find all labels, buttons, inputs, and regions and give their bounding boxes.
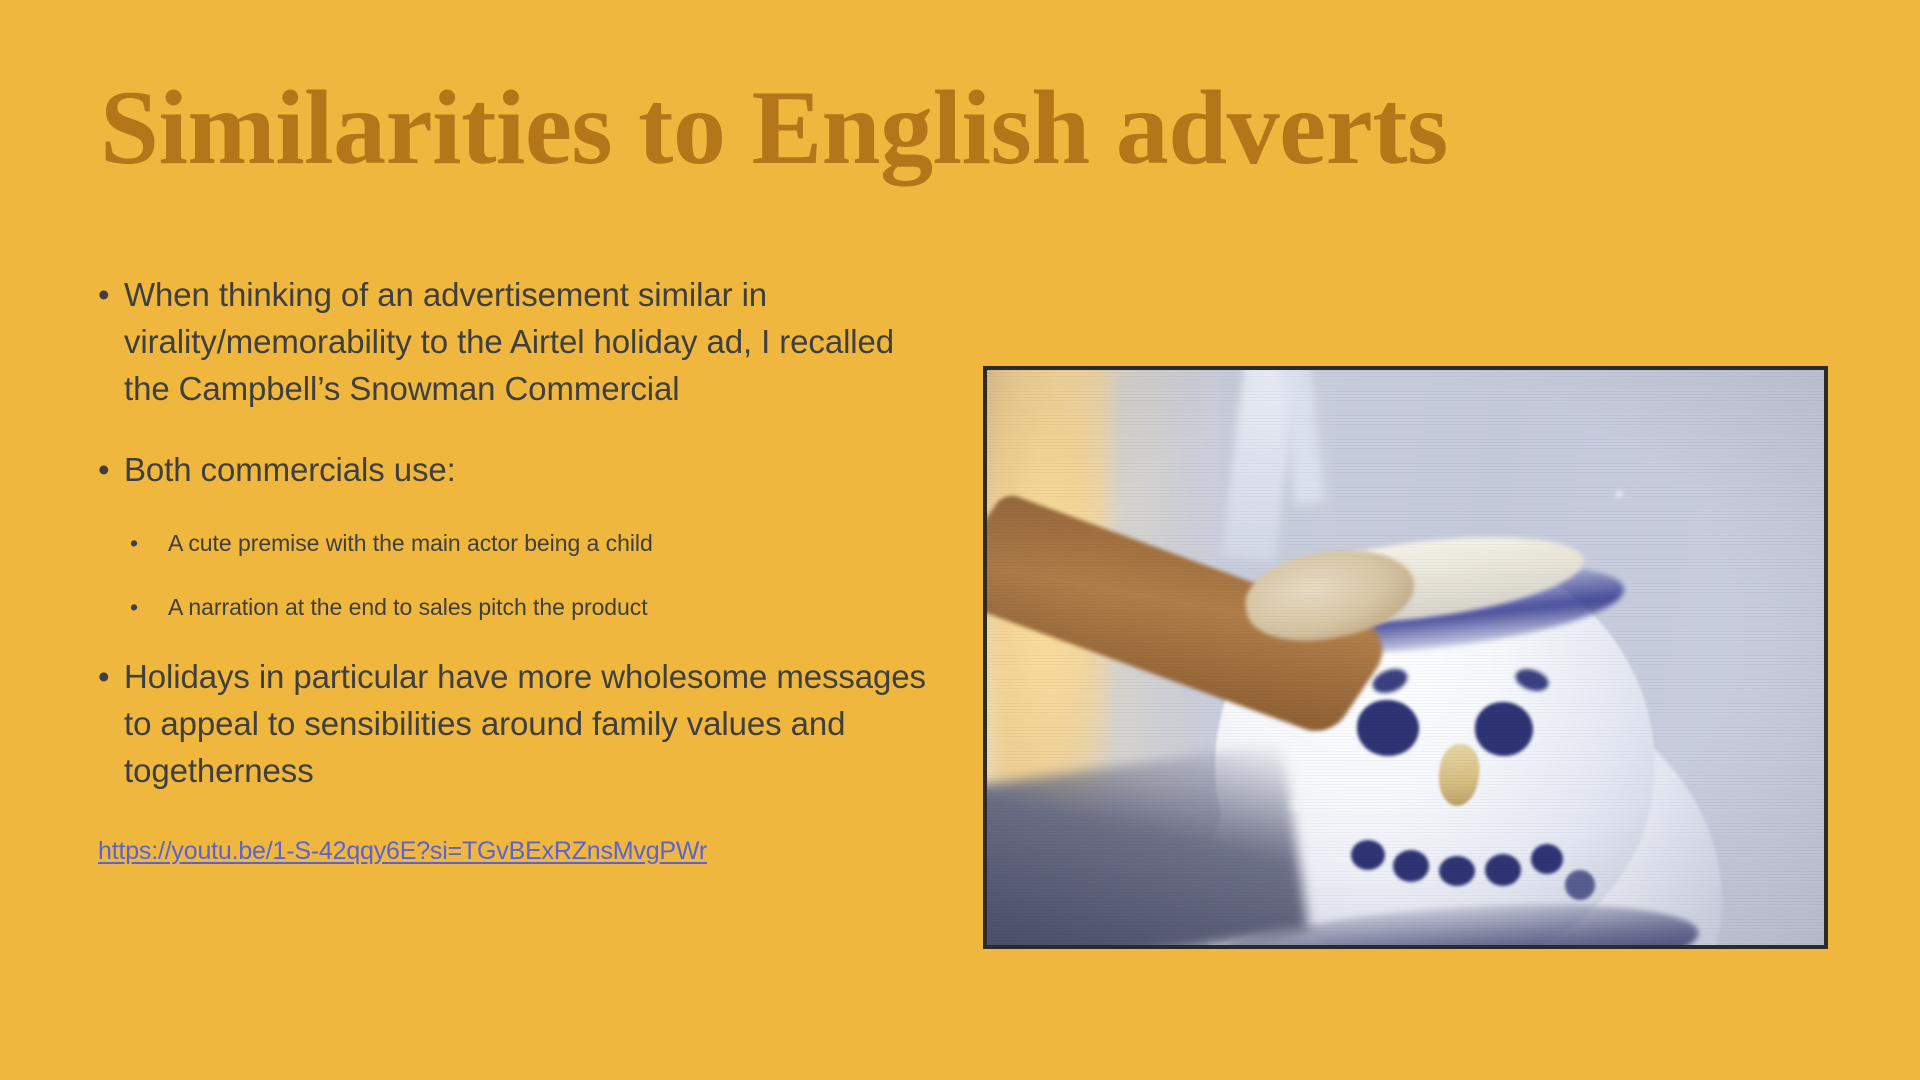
slide-body: • When thinking of an advertisement simi… — [98, 272, 933, 867]
bullet-text: When thinking of an advertisement simila… — [124, 272, 933, 413]
bullet-marker-icon: • — [98, 654, 124, 701]
bullet-marker-icon: • — [130, 527, 168, 560]
bullet-item-2: • Both commercials use: — [98, 447, 933, 494]
bullet-text: A cute premise with the main actor being… — [168, 527, 933, 560]
bullet-marker-icon: • — [98, 447, 124, 494]
slide-canvas: Similarities to English adverts • When t… — [0, 0, 1920, 1080]
sub-bullet-item-1: • A cute premise with the main actor bei… — [98, 527, 933, 560]
sub-bullet-item-2: • A narration at the end to sales pitch … — [98, 591, 933, 624]
photo-scanlines — [987, 370, 1824, 945]
link-row: https://youtu.be/1-S-42qqy6E?si=TGvBExRZ… — [98, 835, 933, 868]
bullet-marker-icon: • — [130, 591, 168, 624]
bullet-marker-icon: • — [98, 272, 124, 319]
bullet-text: A narration at the end to sales pitch th… — [168, 591, 933, 624]
snowman-photo — [987, 370, 1824, 945]
bullet-text: Both commercials use: — [124, 447, 933, 494]
bullet-item-1: • When thinking of an advertisement simi… — [98, 272, 933, 413]
bullet-text: Holidays in particular have more wholeso… — [124, 654, 933, 795]
snowman-image-frame — [983, 366, 1828, 949]
sub-bullet-list: • A cute premise with the main actor bei… — [98, 527, 933, 624]
bullet-item-3: • Holidays in particular have more whole… — [98, 654, 933, 795]
youtube-link[interactable]: https://youtu.be/1-S-42qqy6E?si=TGvBExRZ… — [98, 837, 707, 865]
page-title: Similarities to English adverts — [100, 72, 1860, 184]
